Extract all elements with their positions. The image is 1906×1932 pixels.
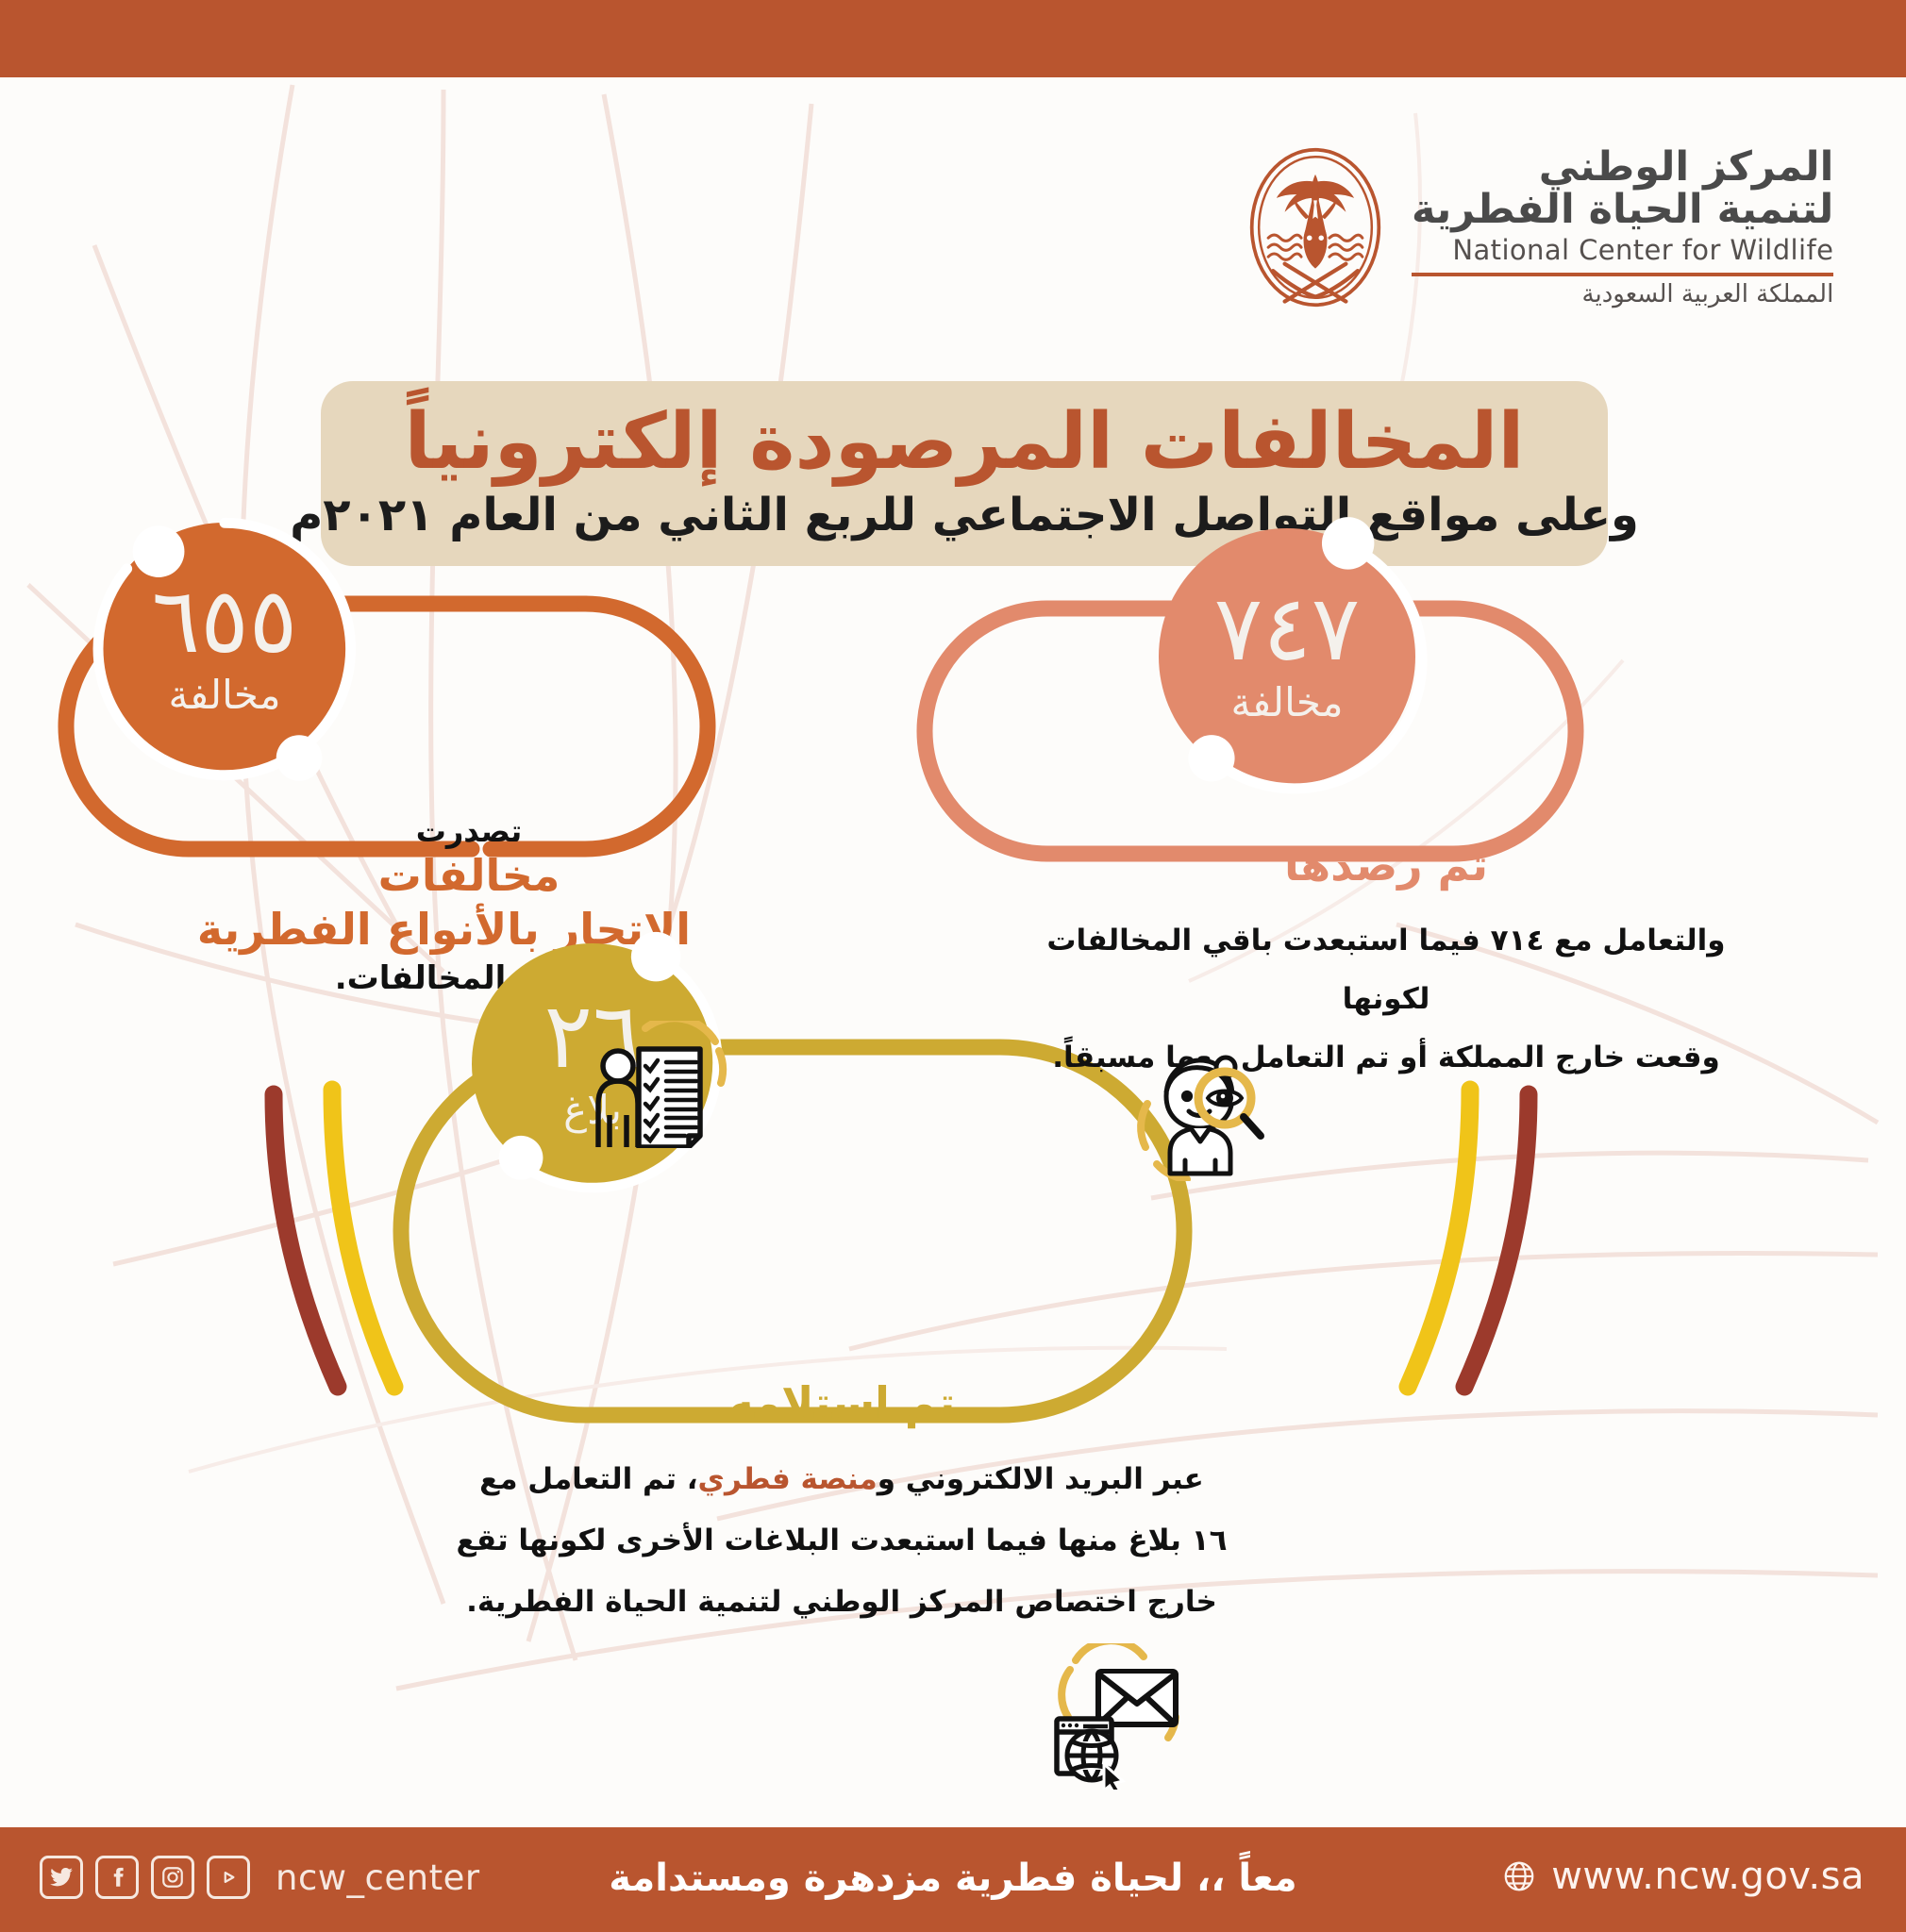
infographic-poster: المركز الوطني لتنمية الحياة الفطرية Nati…: [0, 0, 1906, 1932]
page-title: المخالفات المرصودة إلكترونياً: [405, 403, 1525, 482]
logo-english-name: National Center for Wildlife: [1412, 237, 1833, 264]
card-right-outline-left: [925, 608, 1047, 854]
observer-magnifier-eye-icon: [1132, 1049, 1269, 1181]
card-reports-heading: تم استلامه: [426, 1377, 1257, 1428]
stat-circle-monitored: ٧٤٧ مخالفة: [1159, 528, 1415, 785]
palm-and-swords-emblem: [1244, 146, 1387, 308]
card-reports-line2: ١٦ بلاغ منها فيما استبعدت البلاغات الأخر…: [426, 1510, 1257, 1572]
ncw-logo: المركز الوطني لتنمية الحياة الفطرية Nati…: [1244, 140, 1847, 314]
top-accent-bar: [0, 0, 1906, 77]
card-reports-platform: منصة فطري: [698, 1462, 878, 1496]
card-reports-line1-b: ، تم التعامل مع: [479, 1462, 697, 1496]
page-subtitle: وعلى مواقع التواصل الاجتماعي للربع الثان…: [290, 491, 1639, 539]
title-banner: المخالفات المرصودة إلكترونياً وعلى مواقع…: [321, 381, 1608, 566]
logo-divider: [1412, 273, 1833, 276]
card-reports: تم استلامه عبر البريد الالكتروني ومنصة ف…: [426, 1377, 1257, 1633]
card-reports-line1-a: عبر البريد الالكتروني و: [878, 1462, 1204, 1496]
connector-left-yellow: [332, 1090, 394, 1387]
card-reports-line3: خارج اختصاص المركز الوطني لتنمية الحياة …: [426, 1572, 1257, 1633]
stat-circle-violations: ٦٥٥ مخالفة: [98, 523, 351, 775]
logo-arabic-line1: المركز الوطني: [1412, 147, 1833, 188]
connector-right-yellow: [1408, 1090, 1470, 1387]
stat-unit-violations: مخالفة: [169, 672, 281, 718]
card-monitored-line1: والتعامل مع ٧١٤ فيما استبعدت باقي المخال…: [1023, 911, 1749, 1028]
logo-arabic-line2: لتنمية الحياة الفطرية: [1412, 190, 1833, 230]
email-and-web-portal-icon: [1002, 1643, 1181, 1790]
card-reports-line1: عبر البريد الالكتروني ومنصة فطري، تم الت…: [426, 1449, 1257, 1510]
logo-country: المملكة العربية السعودية: [1412, 282, 1833, 307]
card-monitored-heading: تم رصدها: [1023, 840, 1749, 891]
person-checklist-icon: [587, 1021, 747, 1148]
card-violations-emphasis1: مخالفات: [247, 849, 691, 904]
card-violations-pre: تصدرت: [247, 813, 691, 849]
stat-number-monitored: ٧٤٧: [1214, 588, 1361, 669]
stat-number-violations: ٦٥٥: [152, 580, 298, 661]
globe-icon: [1502, 1859, 1536, 1893]
website-link[interactable]: www.ncw.gov.sa: [1502, 1855, 1864, 1898]
card-left-outline-arc: [491, 604, 708, 849]
website-url[interactable]: www.ncw.gov.sa: [1551, 1855, 1864, 1898]
stat-unit-monitored: مخالفة: [1231, 679, 1344, 725]
